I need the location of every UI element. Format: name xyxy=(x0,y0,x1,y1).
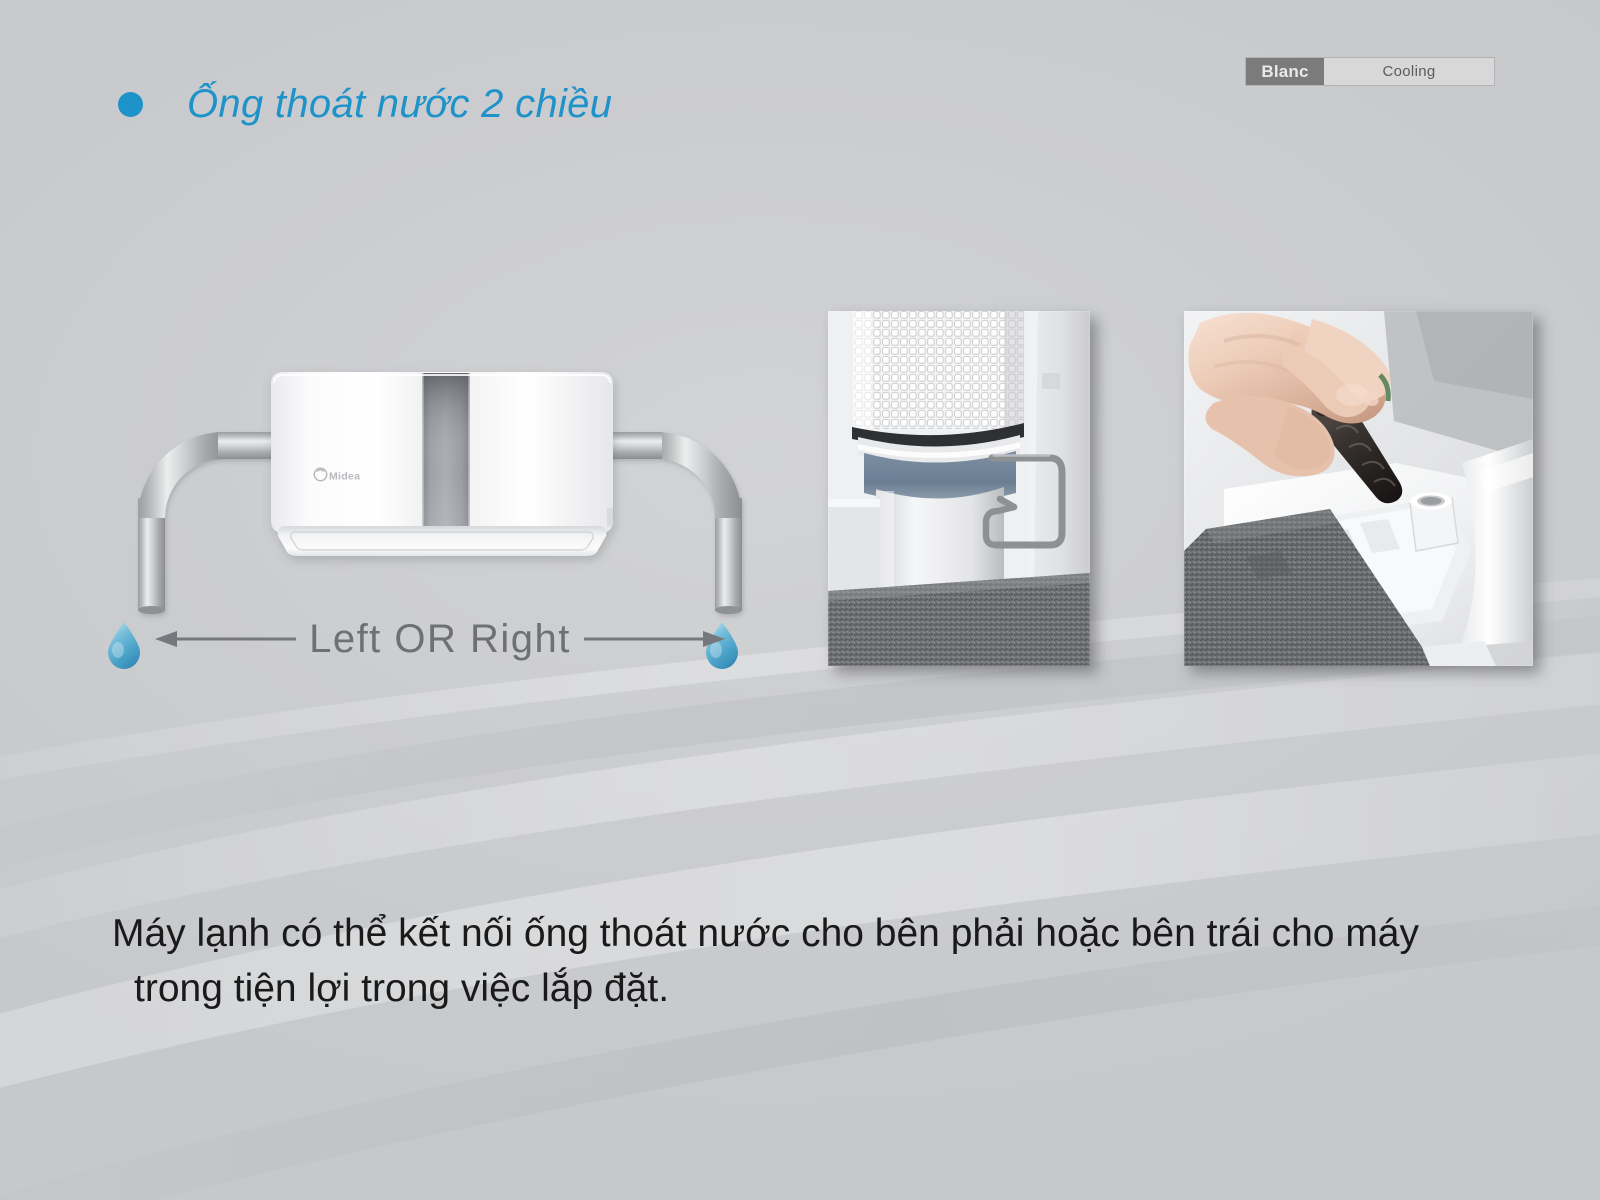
water-drop-icon-right xyxy=(706,622,738,669)
body-description: Máy lạnh có thể kết nối ống thoát nước c… xyxy=(112,906,1512,1017)
slide-canvas: Blanc Cooling Ống thoát nước 2 chiều xyxy=(0,0,1600,1200)
ac-indoor-unit-illustration xyxy=(271,372,613,556)
svg-text:Midea: Midea xyxy=(329,471,360,483)
photo-drain-hose-clamp-image xyxy=(828,311,1090,666)
badge-brand-label: Blanc xyxy=(1246,58,1324,85)
page-title-text: Ống thoát nước 2 chiều xyxy=(187,82,612,127)
photo-drain-plug-hand xyxy=(1184,311,1533,666)
badge-mode-label: Cooling xyxy=(1324,58,1494,85)
bullet-dot-icon xyxy=(118,92,143,117)
photo-drain-hose-clamp xyxy=(828,311,1090,666)
photo-drain-plug-hand-image xyxy=(1184,311,1533,666)
drain-diagram-svg: Midea Left OR Right xyxy=(100,350,780,680)
drain-direction-diagram: Midea Left OR Right xyxy=(100,350,780,680)
body-line-1: Máy lạnh có thể kết nối ống thoát nước c… xyxy=(112,906,1512,961)
arrow-left-icon xyxy=(155,631,296,647)
diagram-caption-text: Left OR Right xyxy=(309,617,571,661)
water-drop-icon-left xyxy=(108,622,140,669)
body-line-2: trong tiện lợi trong việc lắp đặt. xyxy=(112,961,1512,1016)
header-mode-badge: Blanc Cooling xyxy=(1246,58,1494,85)
page-title: Ống thoát nước 2 chiều xyxy=(118,82,612,127)
arrow-right-icon xyxy=(584,631,725,647)
